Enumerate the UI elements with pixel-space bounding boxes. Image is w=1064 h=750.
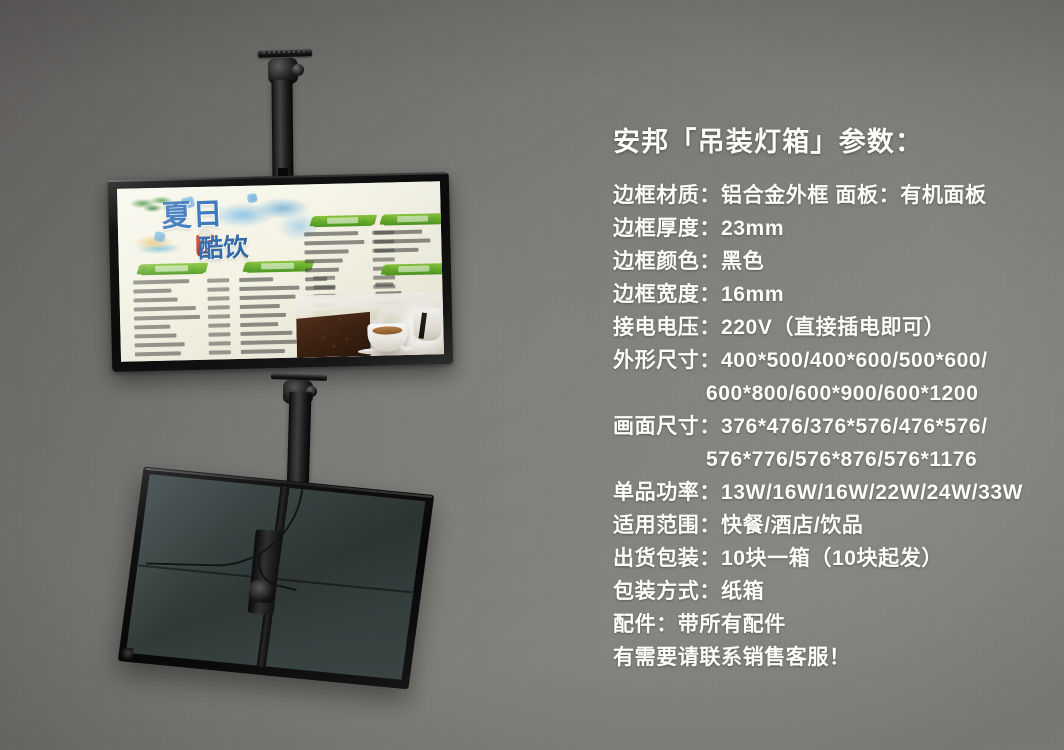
spec-title: 安邦「吊装灯箱」参数：	[613, 126, 1043, 158]
spec-line: 边框宽度：16mm	[613, 278, 1043, 311]
spec-line: 配件：带所有配件	[613, 608, 1043, 641]
spec-line: 边框厚度：23mm	[613, 212, 1043, 245]
spec-line: 画面尺寸：376*476/376*576/476*576/	[613, 410, 1043, 443]
menu-item-row	[305, 257, 395, 263]
specification-block: 安邦「吊装灯箱」参数： 边框材质：铝合金外框 面板：有机面板 边框厚度：23mm…	[613, 126, 1043, 674]
spec-line: 有需要请联系销售客服！	[613, 641, 1043, 674]
spec-line: 边框材质：铝合金外框 面板：有机面板	[613, 179, 1043, 212]
menu-item-row	[374, 238, 444, 244]
menu-section-header	[141, 263, 203, 275]
menu-item-row	[374, 247, 444, 253]
menu-photo-band	[296, 292, 444, 357]
upper-pivot-bolt	[292, 64, 304, 76]
spec-line: 包装方式：纸箱	[613, 575, 1043, 608]
menu-item-row	[135, 341, 231, 347]
spec-line: 适用范围：快餐/酒店/饮品	[613, 509, 1043, 542]
menu-headline-main: 夏日	[161, 200, 224, 233]
menu-item-row	[134, 314, 230, 320]
spec-line: 外形尺寸：400*500/400*600/500*600/	[613, 344, 1043, 377]
menu-item-row	[134, 305, 230, 311]
menu-item-row	[374, 229, 444, 235]
menu-item-row	[375, 281, 444, 287]
light-box-display: 夏日 酷饮	[108, 172, 453, 372]
menu-item-row	[134, 323, 230, 329]
spec-line: 边框颜色：黑色	[613, 245, 1043, 278]
spec-line: 576*776/576*876/576*1176	[613, 443, 1043, 476]
spec-line: 出货包装：10块一箱（10块起发）	[613, 542, 1043, 575]
menu-item-row	[133, 287, 229, 293]
menu-item-row	[133, 278, 229, 284]
coffee-cup-back-photo	[413, 308, 442, 341]
spec-line: 600*800/600*900/600*1200	[613, 377, 1043, 410]
spec-line: 接电电压：220V（直接插电即可）	[613, 311, 1043, 344]
menu-item-row	[305, 275, 395, 281]
spec-line: 单品功率：13W/16W/16W/22W/24W/33W	[613, 476, 1043, 509]
menu-item-row	[134, 296, 230, 302]
menu-item-row	[134, 332, 230, 338]
menu-section-header	[385, 263, 443, 275]
menu-section-header	[314, 215, 372, 227]
light-box-panel: 夏日 酷饮	[117, 181, 444, 362]
menu-section-header	[384, 213, 442, 225]
light-box-rear-panel	[118, 467, 435, 690]
menu-headline-sub: 酷饮	[198, 227, 249, 265]
product-spec-image: 夏日 酷饮	[0, 0, 1064, 750]
menu-artwork: 夏日 酷饮	[117, 181, 444, 362]
menu-headline-block: 夏日 酷饮	[123, 188, 321, 263]
ice-cube-graphic	[247, 193, 258, 204]
menu-section-header	[247, 260, 309, 272]
ceiling-mount-plate	[258, 49, 312, 58]
rear-panel-corner	[120, 647, 134, 660]
coffee-cup-photo	[367, 323, 408, 352]
spec-line-list: 边框材质：铝合金外框 面板：有机面板 边框厚度：23mm 边框颜色：黑色 边框宽…	[613, 179, 1043, 674]
menu-item-row	[135, 350, 231, 356]
